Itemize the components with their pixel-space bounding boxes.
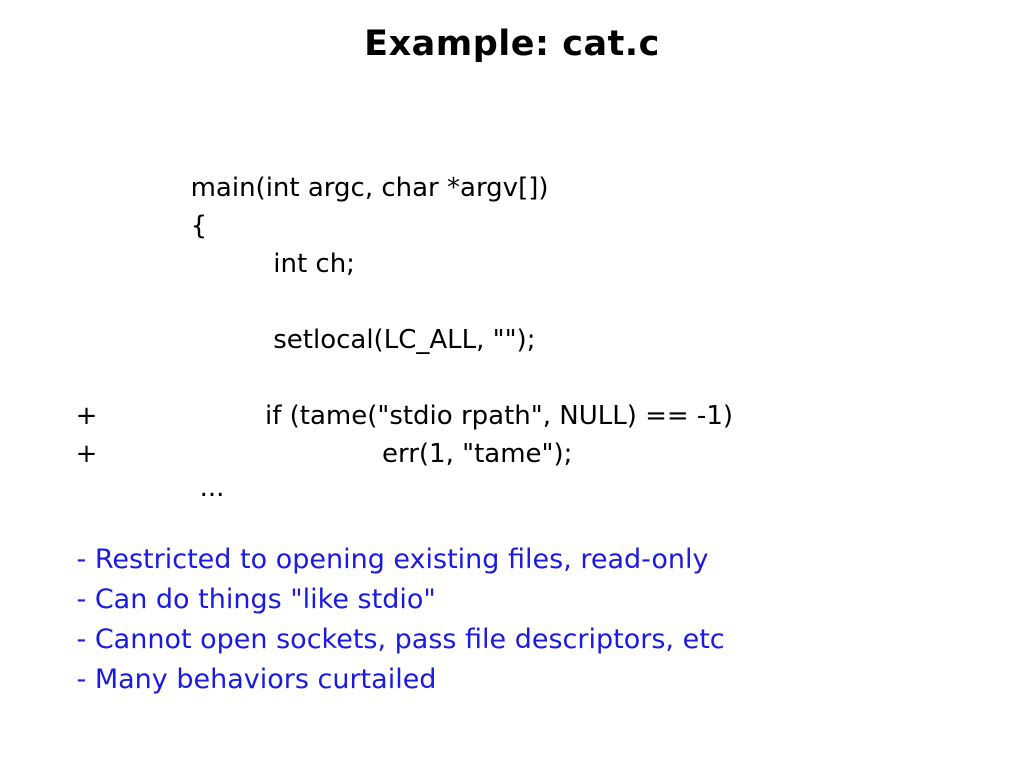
list-item-label: Can do things "like stdio" [95,580,436,620]
ellipsis-text: ... [200,478,225,498]
list-item-label: Many behaviors curtailed [95,660,437,700]
code-text: { [191,207,208,245]
code-line: main(int argc, char *argv[]) [26,131,986,169]
code-text: err(1, "tame"); [191,435,573,473]
diff-marker-plus: + [76,397,191,435]
list-item: - Restricted to opening existing files, … [25,500,985,540]
slide-canvas: Example: cat.c main(int argc, char *argv… [0,0,1024,768]
bullet-list: - Restricted to opening existing files, … [25,500,985,660]
dash-marker: - [77,660,95,700]
dash-marker: - [77,580,95,620]
page-title: Example: cat.c [0,24,1024,64]
code-text: if (tame("stdio rpath", NULL) == -1) [191,397,733,435]
list-item-label: Cannot open sockets, pass file descripto… [95,620,725,660]
code-text: main(int argc, char *argv[]) [191,169,549,207]
list-item-label: Restricted to opening existing files, re… [95,540,709,580]
code-text: int ch; [191,245,355,283]
dash-marker: - [77,540,95,580]
dash-marker: - [77,620,95,660]
code-listing: main(int argc, char *argv[]) { int ch; s… [26,131,986,473]
diff-marker-plus: + [76,435,191,473]
code-text: setlocal(LC_ALL, ""); [191,321,536,359]
